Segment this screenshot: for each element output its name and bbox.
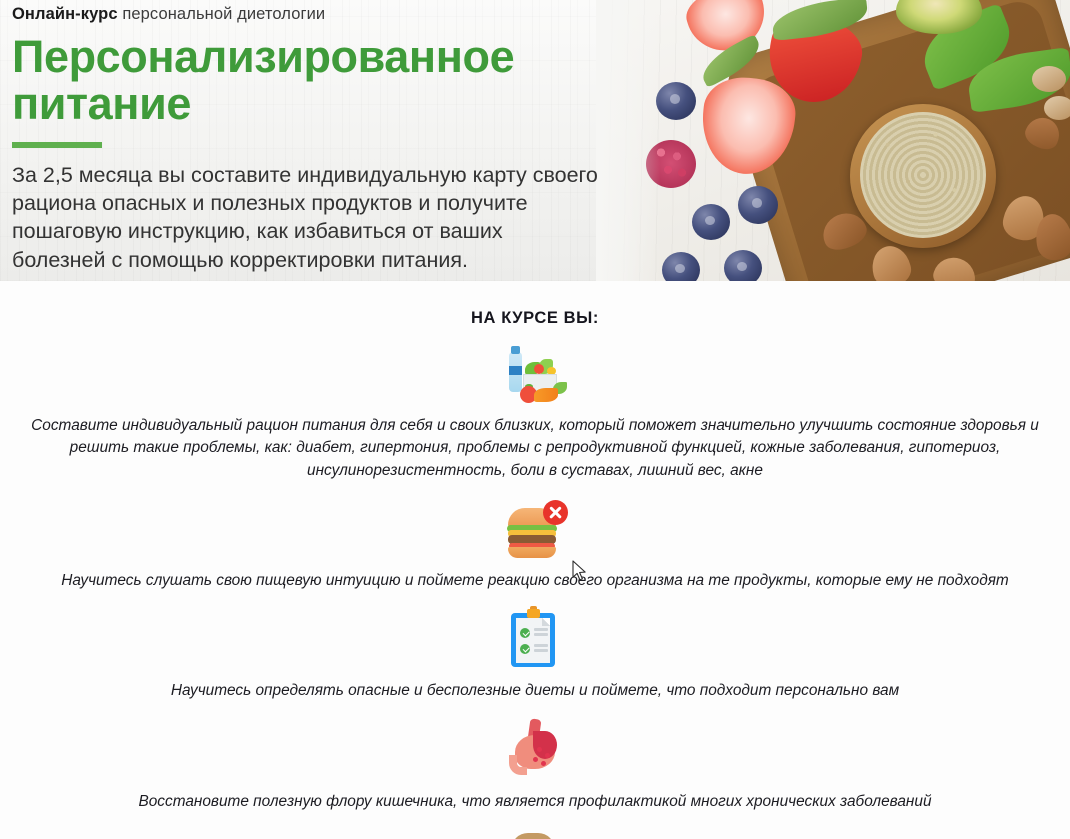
blueberry-icon [738,186,778,224]
page-title: Персонализированное питание [12,34,602,128]
benefit-icon-row: z. [0,827,1070,839]
benefit-item: Составите индивидуальный рацион питания … [0,328,1070,482]
sleepy-face-icon: z. [503,827,567,839]
title-underline-rule [12,142,102,148]
blueberry-icon [656,82,696,120]
hero-kicker-strong: Онлайн-курс [12,5,118,23]
no-burger-icon [503,496,567,560]
benefit-text: Восстановите полезную флору кишечника, ч… [55,781,1015,813]
benefits-section: НА КУРСЕ ВЫ: Составите индивидуальный ра… [0,281,1070,839]
blueberry-icon [692,204,730,240]
blueberry-icon [662,252,700,281]
photo-left-fade [596,0,660,281]
hero-kicker-rest: персональной диетологии [118,5,326,23]
hero-kicker: Онлайн-курс персональной диетологии [12,0,602,24]
hero-text-block: Онлайн-курс персональной диетологии Перс… [12,0,602,274]
hero-description: За 2,5 месяца вы составите индивидуальну… [12,161,602,275]
hero-banner: Онлайн-курс персональной диетологии Перс… [0,0,1070,281]
close-icon [543,500,568,525]
benefit-icon-row [0,496,1070,560]
hero-food-photo [596,0,1070,281]
blueberry-icon [724,250,762,281]
page-root: Онлайн-курс персональной диетологии Перс… [0,0,1070,839]
benefit-icon-row [0,606,1070,670]
bean-icon [1032,66,1066,92]
benefit-icon-row [0,717,1070,781]
benefit-text: Составите индивидуальный рацион питания … [8,406,1062,482]
benefit-item: Научитесь слушать свою пищевую интуицию … [0,482,1070,592]
section-title: НА КУРСЕ ВЫ: [0,281,1070,328]
benefit-icon-row [0,342,1070,406]
benefit-item: Восстановите полезную флору кишечника, ч… [0,703,1070,813]
benefit-item: Научитесь определять опасные и бесполезн… [0,592,1070,702]
bean-icon [1044,96,1070,120]
grain-in-bowl [860,112,986,238]
stomach-icon [503,717,567,781]
groceries-icon [503,342,567,406]
clipboard-checklist-icon [503,606,567,670]
benefit-text: Научитесь слушать свою пищевую интуицию … [55,560,1015,592]
benefit-item: z. Избавьтесь от хронической усталости, … [0,813,1070,839]
mouse-cursor [572,560,588,582]
benefit-text: Научитесь определять опасные и бесполезн… [55,670,1015,702]
